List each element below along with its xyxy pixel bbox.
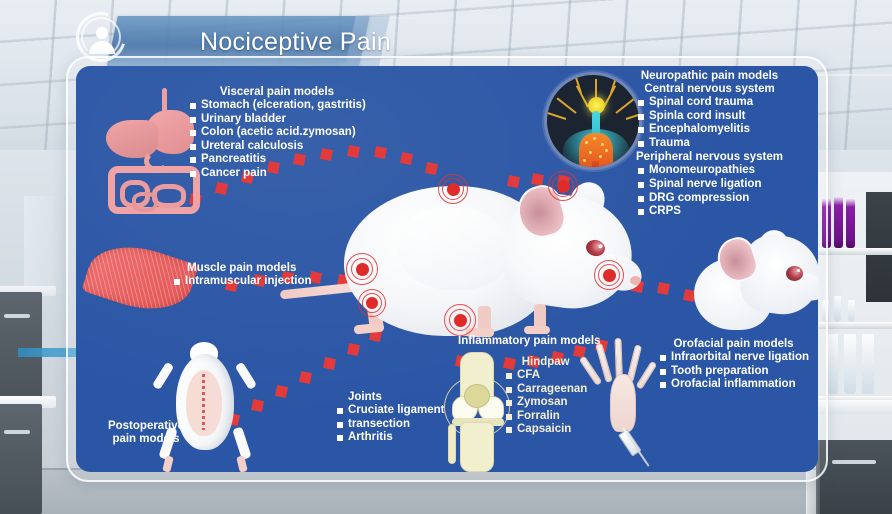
visceral-header: Visceral pain models — [188, 86, 366, 98]
dark-cabinet-right — [866, 192, 892, 302]
list-item: Carrageenan — [504, 383, 587, 397]
avatar-head — [96, 27, 108, 39]
hindpaw-injection-illustration — [592, 338, 654, 468]
mouse-fur-highlight — [398, 208, 508, 290]
mouse-head-closeup-illustration — [700, 222, 818, 330]
infographic-canvas: Nociceptive Pain — [0, 0, 892, 514]
list-item: Spinla cord insult — [636, 110, 783, 124]
joints-header: Joints — [335, 391, 445, 403]
hindpaw-header: Hindpaw — [504, 356, 587, 368]
peripheral-nervous-system-subheader: Peripheral nervous system — [636, 151, 783, 163]
list-item: Intramuscular injection — [172, 275, 312, 289]
list-item: Cruciate ligament — [335, 404, 445, 418]
joints-list: Cruciate ligament transection Arthritis — [335, 404, 445, 445]
postoperative-mouse-illustration — [150, 348, 260, 470]
list-item: Spinal nerve ligation — [636, 178, 783, 192]
cylinder — [844, 334, 856, 394]
inflammatory-header: Inflammatory pain models — [458, 335, 601, 347]
list-item: Tooth preparation — [658, 365, 809, 379]
list-item: CRPS — [636, 205, 783, 219]
visceral-pain-block: Visceral pain models Stomach (elceration… — [188, 86, 366, 181]
list-item: Spinal cord trauma — [636, 96, 783, 110]
small-intestine — [132, 192, 158, 212]
list-item: Trauma — [636, 137, 783, 151]
list-item: Ureteral calculosis — [188, 140, 366, 154]
inflammatory-pain-header-block: Inflammatory pain models — [458, 335, 601, 348]
list-item: Capsaicin — [504, 423, 587, 437]
muscle-header: Muscle pain models — [172, 262, 312, 274]
cord-tail — [592, 161, 599, 170]
cabinet-left-lower — [0, 404, 42, 514]
list-item: Arthritis — [335, 431, 445, 445]
list-item: Cancer pain — [188, 167, 366, 181]
postoperative-pain-block: Postoperative pain models — [84, 420, 208, 446]
glassware — [848, 300, 855, 322]
forelimb — [152, 362, 174, 391]
glassware — [834, 296, 841, 322]
orofacial-header: Orofacial pain models — [658, 338, 809, 350]
mouse-hindpaw — [354, 322, 385, 334]
user-avatar-icon — [76, 12, 126, 62]
brain-spinal-cord-circle-illustration — [544, 72, 642, 170]
orofacial-list: Infraorbital nerve ligation Tooth prepar… — [658, 351, 809, 392]
hindpaw-list: CFA Carrageenan Zymosan Forralin Capsaic… — [504, 369, 587, 437]
cabinet-handle — [4, 430, 30, 434]
list-item: Urinary bladder — [188, 113, 366, 127]
muscle-list: Intramuscular injection — [172, 275, 312, 289]
central-list: Spinal cord trauma Spinla cord insult En… — [636, 96, 783, 150]
list-item: Stomach (elceration, gastritis) — [188, 99, 366, 113]
laboratory-mouse-illustration — [338, 178, 638, 354]
mouse-nose — [630, 276, 641, 285]
neuropathic-pain-block: Neuropathic pain models Central nervous … — [636, 70, 783, 219]
cylinder — [862, 334, 874, 394]
forelimb — [235, 362, 257, 391]
cabinet-left-upper — [0, 292, 42, 400]
tibia — [460, 422, 494, 472]
list-item: DRG compression — [636, 192, 783, 206]
fibula — [448, 424, 456, 464]
cabinet-handle — [4, 314, 30, 318]
list-item: Monomeuropathies — [636, 164, 783, 178]
visceral-list: Stomach (elceration, gastritis) Urinary … — [188, 99, 366, 181]
postoperative-line-2: pain models — [84, 433, 208, 445]
list-item: CFA — [504, 369, 587, 383]
list-item: Colon (acetic acid.zymosan) — [188, 126, 366, 140]
list-item: Encephalomyelitis — [636, 123, 783, 137]
list-item: Infraorbital nerve ligation — [658, 351, 809, 365]
list-item: Pancreatitis — [188, 153, 366, 167]
joints-block: Joints Cruciate ligament transection Art… — [335, 391, 445, 445]
list-item: Orofacial inflammation — [658, 378, 809, 392]
wall-panel-left — [24, 196, 72, 294]
postoperative-line-1: Postoperative — [84, 420, 208, 432]
muscle-pain-block: Muscle pain models Intramuscular injecti… — [172, 262, 312, 289]
page-title: Nociceptive Pain — [200, 28, 391, 57]
hindpaw-block: Hindpaw CFA Carrageenan Zymosan Forralin… — [504, 356, 587, 437]
mouse-forepaw-2 — [524, 326, 550, 334]
list-item-continuation: transection — [335, 418, 445, 432]
neuropathic-header: Neuropathic pain models — [636, 70, 783, 82]
mouse-eye — [786, 266, 803, 281]
peripheral-list: Monomeuropathies Spinal nerve ligation D… — [636, 164, 783, 218]
content-panel: Visceral pain models Stomach (elceration… — [76, 66, 818, 472]
drawer-handle — [832, 460, 876, 464]
test-tube-purple — [834, 196, 843, 248]
test-tube-purple — [846, 198, 855, 248]
list-item: Forralin — [504, 410, 587, 424]
list-item: Zymosan — [504, 396, 587, 410]
orofacial-pain-block: Orofacial pain models Infraorbital nerve… — [658, 338, 809, 392]
central-nervous-system-subheader: Central nervous system — [636, 83, 783, 95]
paw-palm — [610, 374, 636, 432]
patella — [464, 384, 490, 408]
